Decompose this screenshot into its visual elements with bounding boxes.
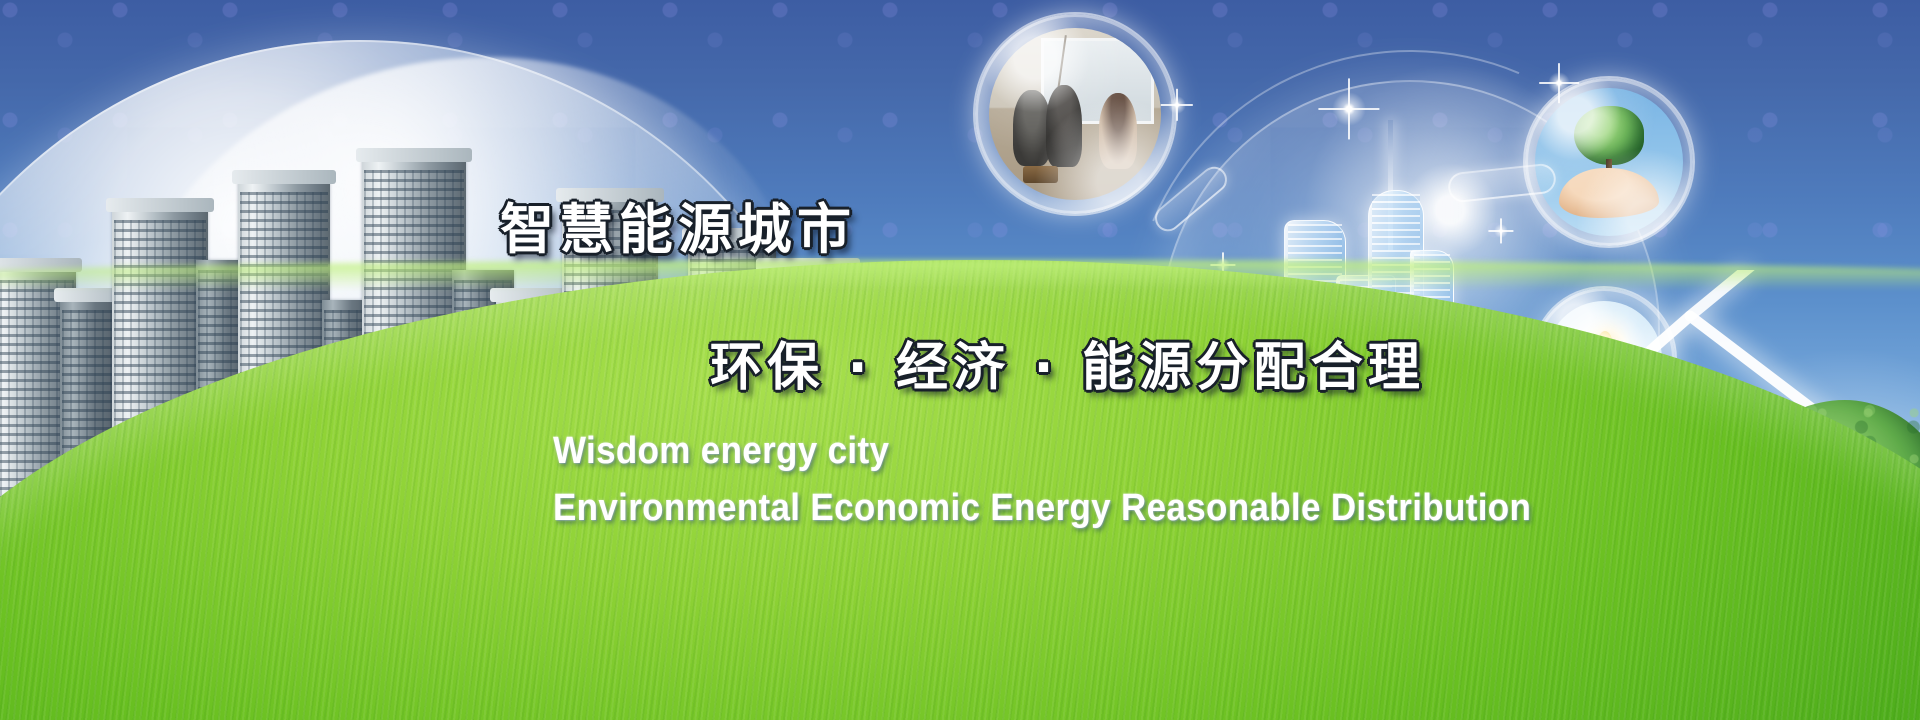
tree-in-hand-art (1535, 88, 1683, 236)
tagline-english-primary: Wisdom energy city (553, 430, 889, 473)
headline-chinese: 智慧能源城市 (500, 185, 856, 264)
tree-in-hand-bubble (1525, 78, 1693, 246)
grass-highlight-edge (0, 260, 1920, 290)
bubble-connector (1150, 161, 1233, 236)
tagline-english-secondary: Environmental Economic Energy Reasonable… (553, 487, 1531, 530)
subheadline-chinese: 环保 · 经济 · 能源分配合理 (710, 325, 1425, 400)
family-photo-art (989, 28, 1161, 200)
family-photo-bubble (975, 14, 1175, 214)
energy-city-banner: 智慧能源城市 环保 · 经济 · 能源分配合理 Wisdom energy ci… (0, 0, 1920, 720)
